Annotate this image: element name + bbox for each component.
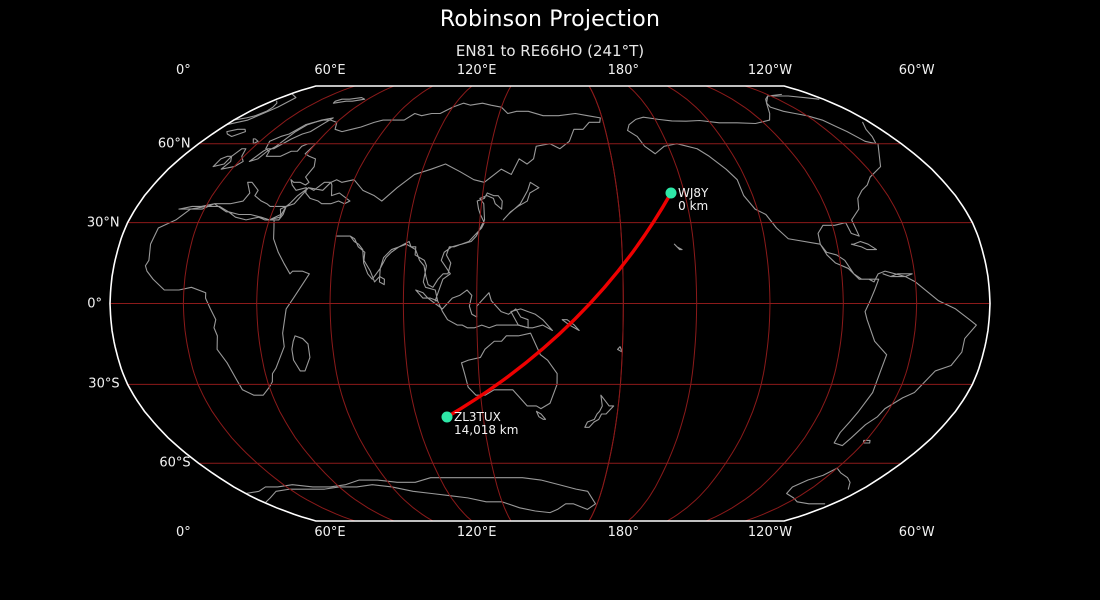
map-figure: Robinson Projection EN81 to RE66HO (241°…	[0, 0, 1100, 600]
lat-label: 0°	[87, 296, 102, 311]
lon-label-bottom: 0°	[176, 525, 191, 540]
lat-label: 30°N	[87, 215, 120, 230]
lon-label-top: 120°E	[457, 63, 497, 78]
station-label: ZL3TUX14,018 km	[454, 411, 518, 437]
lat-label: 60°N	[158, 136, 191, 151]
station-label: WJ8Y0 km	[678, 187, 708, 213]
lon-label-bottom: 60°E	[314, 525, 345, 540]
station-distance: 14,018 km	[454, 424, 518, 437]
lon-label-top: 0°	[176, 63, 191, 78]
station-marker[interactable]	[666, 188, 677, 199]
station-marker[interactable]	[442, 412, 453, 423]
lat-label: 30°S	[88, 377, 119, 392]
lon-label-top: 60°E	[314, 63, 345, 78]
map-body	[110, 84, 994, 524]
lon-label-top: 60°W	[899, 63, 935, 78]
lon-label-bottom: 120°W	[748, 525, 792, 540]
lon-label-top: 180°	[608, 63, 639, 78]
station-distance: 0 km	[678, 200, 708, 213]
lon-label-bottom: 180°	[608, 525, 639, 540]
lon-label-bottom: 120°E	[457, 525, 497, 540]
world-map-canvas[interactable]	[0, 0, 1100, 600]
lat-label: 60°S	[159, 456, 190, 471]
lon-label-bottom: 60°W	[899, 525, 935, 540]
lon-label-top: 120°W	[748, 63, 792, 78]
